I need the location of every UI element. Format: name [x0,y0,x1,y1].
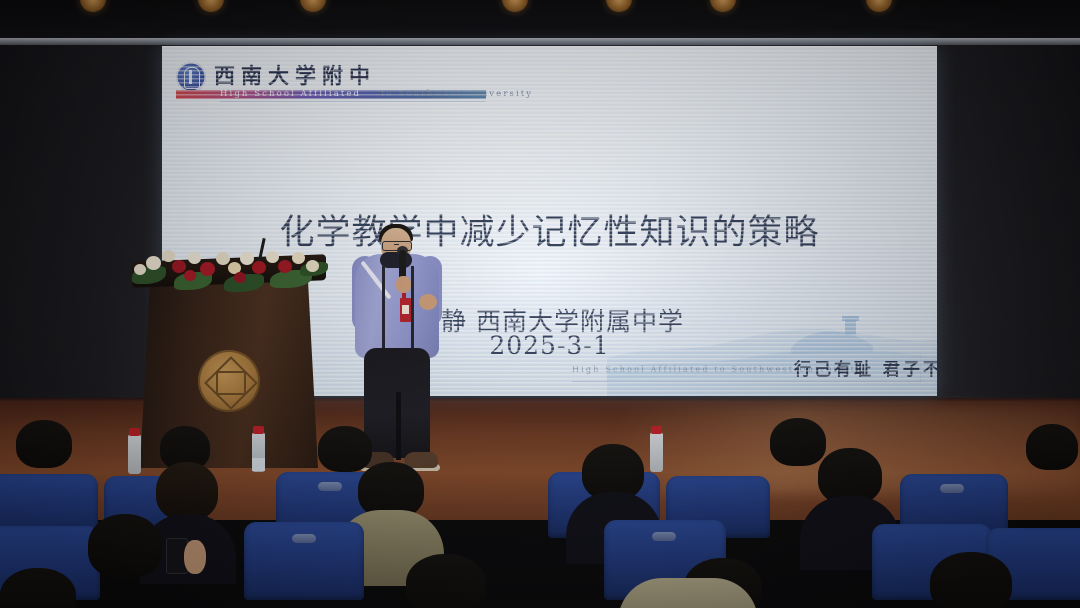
seat-number-tag [940,484,964,493]
audience-head [930,552,1012,608]
speaker-jacket-zip-right [411,266,414,350]
wall-left-panel [0,45,162,407]
slide-header: 西南大学附中 High School Affiliated to Southwe… [176,60,486,102]
ceiling-spotlight-icon [198,0,224,12]
speaker-right-hand [419,294,437,310]
header-rule [220,101,486,102]
audience-head [318,426,372,472]
flower-arrangement [128,244,328,292]
podium-crest-emblem [198,350,260,412]
ceiling-spotlight-icon [606,0,632,12]
ceiling-spotlight-icon [300,0,326,12]
slide-calligraphy-motto: 行己有耻 君子不器 [794,355,937,380]
audience-head [16,420,72,468]
ceiling-spotlight-icon [866,0,892,12]
speaker-jacket-zip-left [382,266,385,350]
bottle-cap-icon [651,426,662,434]
speaker-left-hand [396,276,411,293]
bottle-cap-icon [129,428,140,436]
audience-head [1026,424,1078,470]
wall-right-panel [937,45,1080,407]
ceiling-spotlight-icon [710,0,736,12]
ceiling-trim [0,38,1080,45]
school-crest-icon [176,62,206,92]
audience-hand [184,540,206,574]
ceiling-spotlight-icon [502,0,528,12]
school-name-en-tail: to Southwest University [381,89,533,99]
lecture-hall-photo: 西南大学附中 High School Affiliated to Southwe… [0,0,1080,608]
bottle-cap-icon [253,426,264,434]
footer-rule [572,381,922,382]
audience-area [0,418,1080,608]
water-bottle [650,432,663,472]
seat-number-tag [652,532,676,541]
audience-head [156,462,218,520]
audience-head [88,514,162,578]
seat-number-tag [318,482,342,491]
seat-number-tag [292,534,316,543]
speaker-badge [400,298,411,322]
ceiling-spotlight-icon [80,0,106,12]
school-name-en: High School Affiliated [220,89,361,99]
water-bottle [128,434,141,474]
bottle-label [252,458,265,471]
audience-head [406,554,486,608]
audience-head [770,418,826,466]
school-name-cn: 西南大学附中 [214,60,376,90]
